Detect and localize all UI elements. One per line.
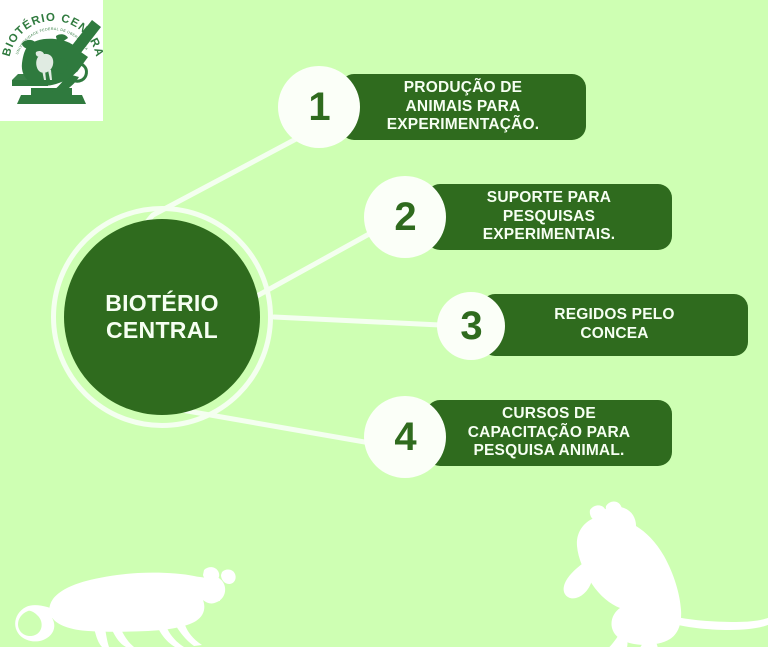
item-2-number-badge: 2 <box>364 176 446 258</box>
item-4-text: CURSOS DE CAPACITAÇÃO PARA PESQUISA ANIM… <box>468 405 631 462</box>
item-2-box: SUPORTE PARA PESQUISAS EXPERIMENTAIS. <box>426 184 672 250</box>
central-hub: BIOTÉRIO CENTRAL <box>64 219 260 415</box>
biotario-central-logo: BIOTÉRIO CENTRAL UNIVERSIDADE FEDERAL DE… <box>0 0 103 121</box>
item-3-number: 3 <box>460 306 481 346</box>
item-4-number: 4 <box>394 417 415 457</box>
item-1-text: PRODUÇÃO DE ANIMAIS PARA EXPERIMENTAÇÃO. <box>387 79 540 136</box>
logo-panel: BIOTÉRIO CENTRAL UNIVERSIDADE FEDERAL DE… <box>0 0 103 121</box>
infographic-canvas: BIOTÉRIO CENTRAL PRODUÇÃO DE ANIMAIS PAR… <box>0 0 768 654</box>
item-4-box: CURSOS DE CAPACITAÇÃO PARA PESQUISA ANIM… <box>426 400 672 466</box>
item-2-text: SUPORTE PARA PESQUISAS EXPERIMENTAIS. <box>483 189 616 246</box>
item-3-box: REGIDOS PELO CONCEA <box>481 294 748 356</box>
item-1-number: 1 <box>308 87 329 127</box>
item-2-number: 2 <box>394 197 415 237</box>
item-3-text: REGIDOS PELO CONCEA <box>554 306 674 344</box>
bottom-white-strip <box>0 647 768 654</box>
item-3-number-badge: 3 <box>437 292 505 360</box>
item-1-number-badge: 1 <box>278 66 360 148</box>
central-hub-label: BIOTÉRIO CENTRAL <box>105 290 219 344</box>
item-1-box: PRODUÇÃO DE ANIMAIS PARA EXPERIMENTAÇÃO. <box>340 74 586 140</box>
item-4-number-badge: 4 <box>364 396 446 478</box>
